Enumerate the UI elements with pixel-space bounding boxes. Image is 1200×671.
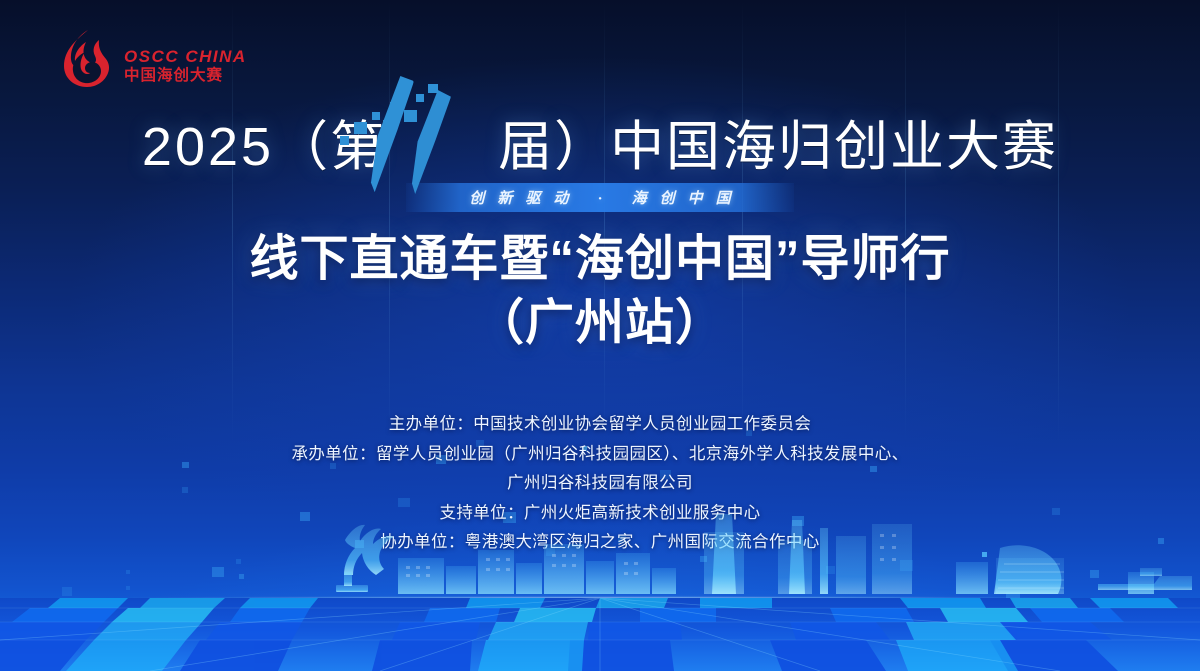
five-rams-statue-icon	[336, 525, 394, 592]
brand-logo: OSCC CHINA 中国海创大赛	[58, 28, 247, 90]
title-paren-open: （第	[274, 117, 386, 177]
slogan-bar: 创新驱动 · 海创中国	[406, 183, 794, 212]
logo-en-text: OSCC CHINA	[124, 48, 247, 65]
title-text-row: 2025（第届）中国海归创业大赛	[142, 118, 1058, 176]
guangzhou-skyline-illustration	[0, 506, 1200, 601]
title-line-1: 2025（第届）中国海归创业大赛	[142, 118, 1058, 176]
headline-line-2: （广州站）	[0, 294, 1200, 354]
flame-logo-icon	[58, 28, 118, 90]
title-block: 2025（第届）中国海归创业大赛 创新驱动 · 海创中国 线下直通车暨“海创中国…	[0, 118, 1200, 354]
organizer-line-co-host-2: 广州归谷科技园有限公司	[0, 469, 1200, 499]
poster-canvas: OSCC CHINA 中国海创大赛 2025（第届）中国海归创业大赛 创新驱	[0, 0, 1200, 671]
title-event-name: 中国海归创业大赛	[610, 117, 1058, 177]
organizer-line-host: 主办单位：中国技术创业协会留学人员创业园工作委员会	[0, 410, 1200, 440]
headline-line-1: 线下直通车暨“海创中国”导师行	[249, 232, 950, 286]
logo-cn-text: 中国海创大赛	[124, 67, 247, 85]
organizer-line-co-host-1: 承办单位：留学人员创业园（广州归谷科技园园区）、北京海外学人科技发展中心、	[0, 440, 1200, 470]
slogan-text: 创新驱动 · 海创中国	[456, 187, 743, 208]
title-year: 2025	[142, 117, 274, 177]
title-paren-close: 届）	[498, 117, 610, 177]
headline-block: 线下直通车暨“海创中国”导师行 （广州站）	[0, 230, 1200, 354]
perspective-grid-floor	[0, 598, 1200, 671]
